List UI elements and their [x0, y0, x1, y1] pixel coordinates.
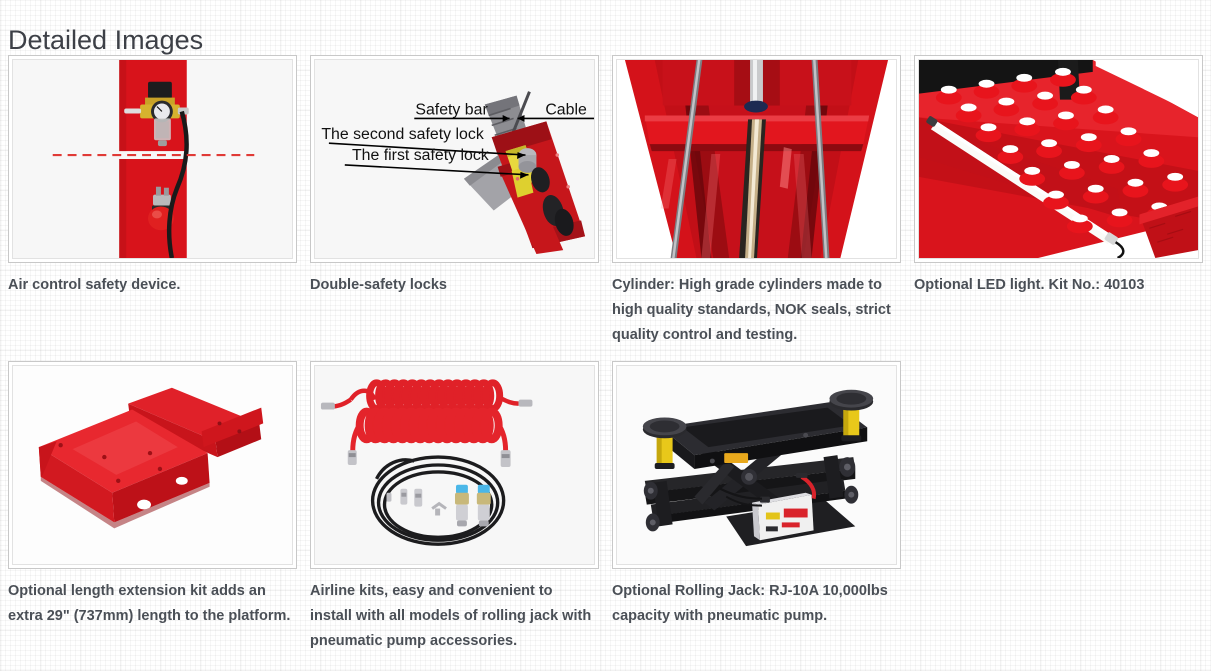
gallery-empty-cell: [906, 361, 1208, 661]
image-frame[interactable]: [914, 55, 1203, 263]
image-area: [616, 59, 897, 259]
image-area: [616, 365, 897, 565]
image-frame[interactable]: [612, 55, 901, 263]
item-caption: Double-safety locks: [310, 273, 594, 298]
image-area: [314, 365, 595, 565]
image-area: [918, 59, 1199, 259]
image-area: Safety bar Cable The second safety lock …: [314, 59, 595, 259]
item-caption: Optional length extension kit adds an ex…: [8, 579, 292, 629]
gallery-row-1: Air control safety device.: [0, 55, 1211, 355]
image-frame[interactable]: [8, 361, 297, 569]
air-control-safety-device-image: [13, 60, 292, 258]
image-frame[interactable]: [310, 361, 599, 569]
svg-text:The first safety lock: The first safety lock: [352, 147, 489, 164]
gallery-item-double-safety-locks[interactable]: Safety bar Cable The second safety lock …: [302, 55, 604, 355]
item-caption: Cylinder: High grade cylinders made to h…: [612, 273, 896, 348]
gallery-item-optional-led-light[interactable]: Optional LED light. Kit No.: 40103: [906, 55, 1208, 355]
image-area: [12, 59, 293, 259]
gallery-item-length-extension-kit[interactable]: Optional length extension kit adds an ex…: [0, 361, 302, 661]
gallery-item-airline-kits[interactable]: Airline kits, easy and convenient to ins…: [302, 361, 604, 661]
airline-kits-image: [315, 366, 594, 564]
item-caption: Optional Rolling Jack: RJ-10A 10,000lbs …: [612, 579, 896, 629]
gallery-item-air-control-safety-device[interactable]: Air control safety device.: [0, 55, 302, 355]
detailed-images-gallery: Air control safety device.: [0, 55, 1211, 661]
gallery-row-2: Optional length extension kit adds an ex…: [0, 361, 1211, 661]
svg-text:The second safety lock: The second safety lock: [321, 126, 484, 143]
item-caption: Airline kits, easy and convenient to ins…: [310, 579, 594, 654]
image-area: [12, 365, 293, 565]
item-caption: Air control safety device.: [8, 273, 292, 298]
item-caption: Optional LED light. Kit No.: 40103: [914, 273, 1198, 298]
gallery-item-cylinder[interactable]: Cylinder: High grade cylinders made to h…: [604, 55, 906, 355]
optional-rolling-jack-image: [617, 366, 896, 564]
length-extension-kit-image: [13, 366, 292, 564]
svg-text:Cable: Cable: [545, 101, 587, 118]
gallery-item-optional-rolling-jack[interactable]: Optional Rolling Jack: RJ-10A 10,000lbs …: [604, 361, 906, 661]
svg-text:Safety bar: Safety bar: [415, 101, 488, 118]
image-frame[interactable]: [8, 55, 297, 263]
image-frame[interactable]: Safety bar Cable The second safety lock …: [310, 55, 599, 263]
image-frame[interactable]: [612, 361, 901, 569]
optional-led-light-image: [919, 60, 1198, 258]
cylinder-image: [617, 60, 896, 258]
double-safety-locks-diagram: Safety bar Cable The second safety lock …: [315, 60, 594, 258]
